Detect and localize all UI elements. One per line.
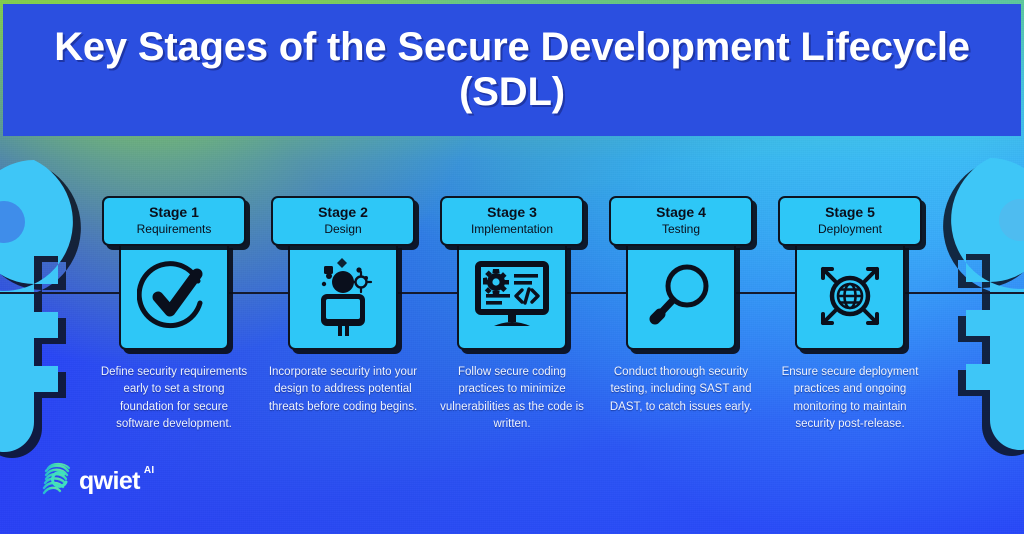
title-banner: Key Stages of the Secure Development Lif… [3, 4, 1021, 136]
stage-description-5: Ensure secure deployment practices and o… [774, 364, 926, 434]
stage-name-5: Deployment [818, 221, 882, 237]
stage-description-4: Conduct thorough security testing, inclu… [605, 364, 757, 416]
logo-wordmark: qwiet [79, 469, 140, 494]
check-circle-icon [137, 259, 211, 333]
stage-description-2: Incorporate security into your design to… [267, 364, 419, 416]
logo-ai-suffix: AI [144, 465, 155, 476]
stage-icon-box-5 [795, 244, 905, 350]
qwiet-spiral-icon [40, 462, 72, 501]
stage-card-3[interactable]: Stage 3 Implementation [440, 196, 584, 434]
stage-card-5[interactable]: Stage 5 Deployment [778, 196, 922, 434]
stage-header-2: Stage 2 Design [271, 196, 415, 246]
stage-icon-box-3 [457, 244, 567, 350]
stage-description-3: Follow secure coding practices to minimi… [436, 364, 588, 434]
stage-name-3: Implementation [471, 221, 553, 237]
brand-logo[interactable]: qwiet AI [40, 462, 155, 501]
stage-icon-box-2 [288, 244, 398, 350]
stage-description-1: Define security requirements early to se… [98, 364, 250, 434]
stage-name-4: Testing [662, 221, 700, 237]
stage-icon-box-1 [119, 244, 229, 350]
stage-header-4: Stage 4 Testing [609, 196, 753, 246]
page-title: Key Stages of the Secure Development Lif… [3, 25, 1021, 115]
stage-list: Stage 1 Requirements Define security req… [0, 196, 1024, 434]
stage-name-1: Requirements [137, 221, 212, 237]
stage-card-1[interactable]: Stage 1 Requirements Define security req… [102, 196, 246, 434]
stage-number-1: Stage 1 [149, 205, 199, 220]
monitor-code-icon [472, 260, 552, 332]
stage-card-2[interactable]: Stage 2 Design [271, 196, 415, 416]
stage-header-5: Stage 5 Deployment [778, 196, 922, 246]
magnifying-glass-icon [644, 259, 718, 333]
stage-card-4[interactable]: Stage 4 Testing Conduct thorough securit… [609, 196, 753, 416]
infographic-canvas: Key Stages of the Secure Development Lif… [0, 0, 1024, 534]
person-design-icon [304, 256, 382, 336]
globe-arrows-icon [810, 256, 890, 336]
stage-icon-box-4 [626, 244, 736, 350]
stage-number-5: Stage 5 [825, 205, 875, 220]
stage-number-3: Stage 3 [487, 205, 537, 220]
stage-number-4: Stage 4 [656, 205, 706, 220]
stage-name-2: Design [324, 221, 361, 237]
stage-number-2: Stage 2 [318, 205, 368, 220]
stage-header-3: Stage 3 Implementation [440, 196, 584, 246]
stage-header-1: Stage 1 Requirements [102, 196, 246, 246]
